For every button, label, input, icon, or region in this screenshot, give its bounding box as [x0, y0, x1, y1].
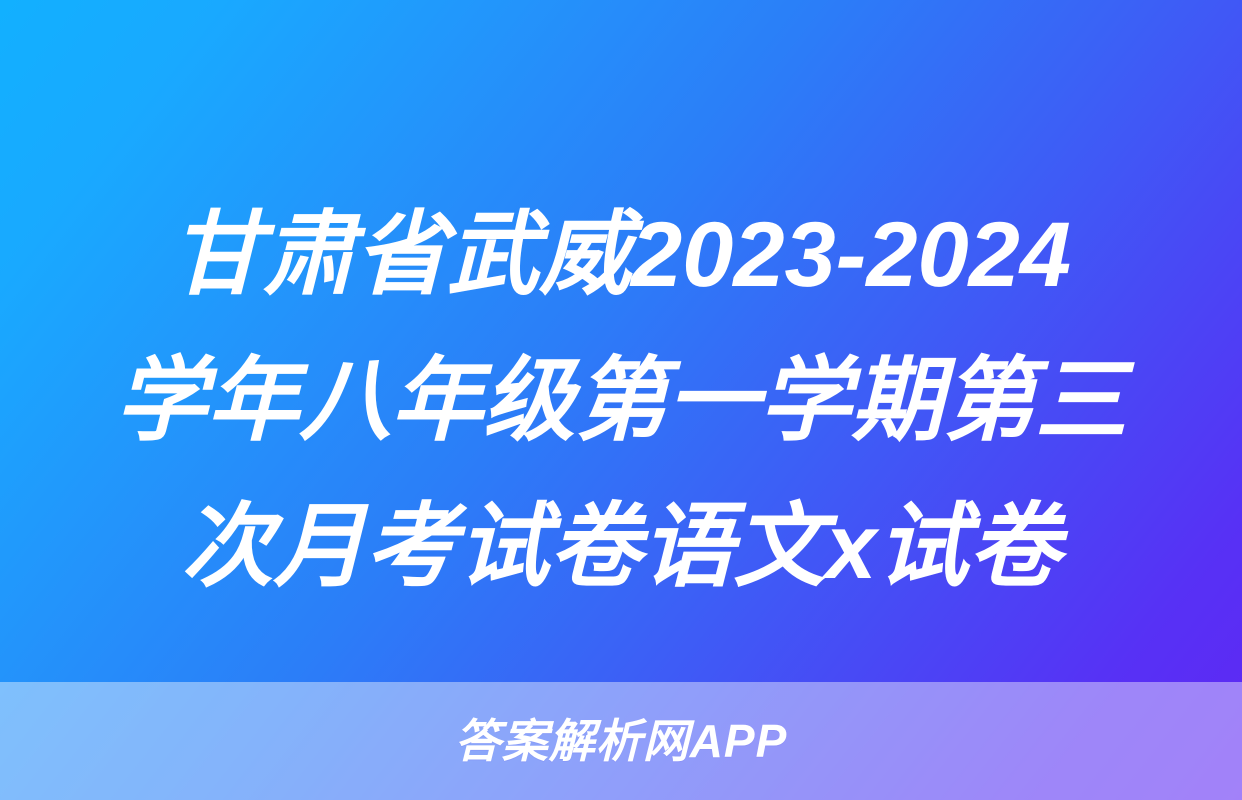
poster-canvas: 甘肃省武威2023-2024 学年八年级第一学期第三 次月考试卷语文x试卷 答案…	[0, 0, 1242, 800]
gradient-background	[0, 0, 1242, 800]
app-brand-label: 答案解析网APP	[455, 718, 788, 764]
footer-band: 答案解析网APP	[0, 682, 1242, 800]
